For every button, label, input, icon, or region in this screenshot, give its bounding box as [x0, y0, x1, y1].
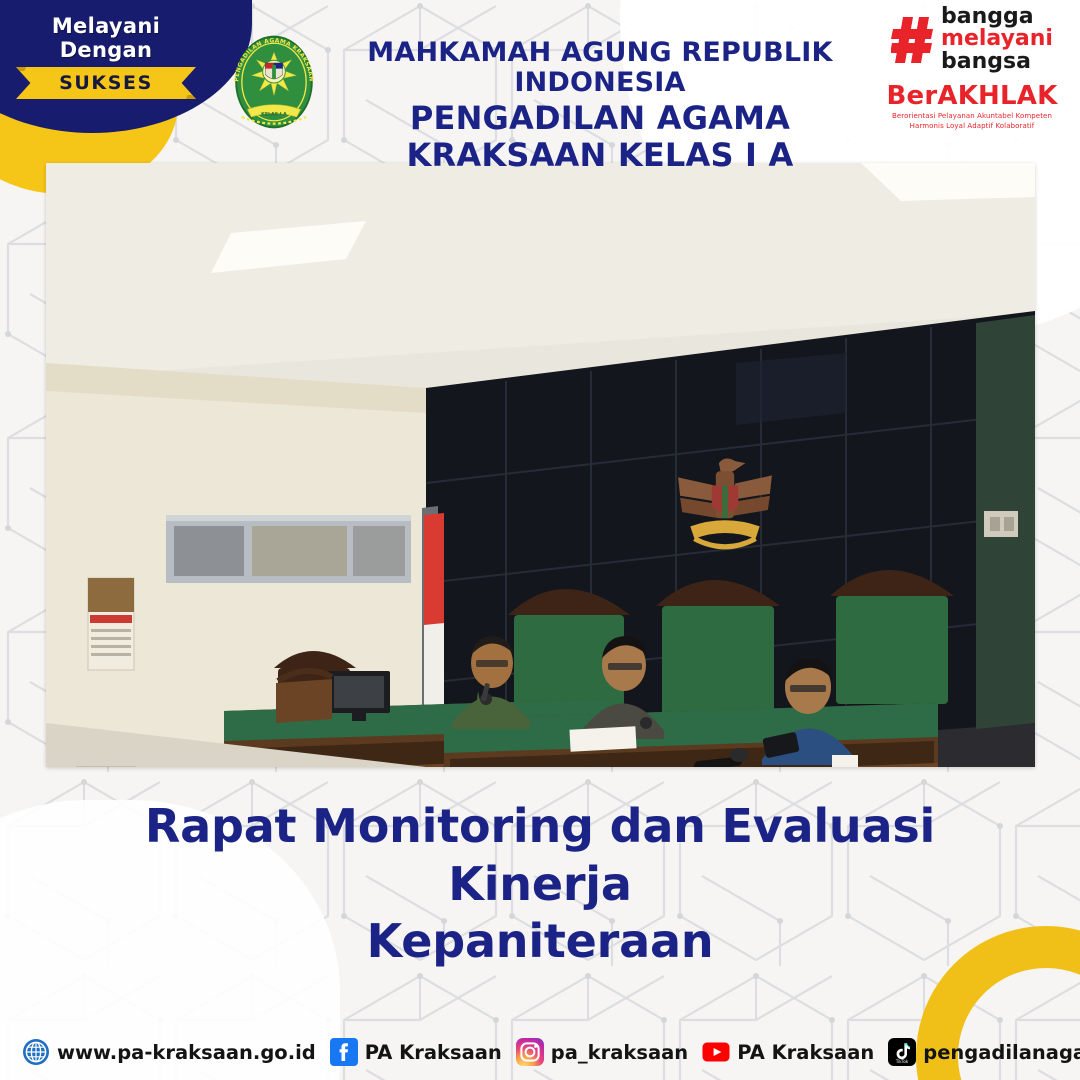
footer-item-facebook[interactable]: PA Kraksaan	[330, 1038, 502, 1066]
poster-caption: Rapat Monitoring dan Evaluasi Kinerja Ke…	[70, 798, 1010, 971]
bangga-words: bangga melayani bangsa	[941, 6, 1053, 73]
footer-item-instagram[interactable]: pa_kraksaan	[516, 1038, 688, 1066]
ribbon-tail-right-icon	[182, 95, 209, 107]
footer-item-tiktok[interactable]: TikTok pengadilanagamakraksaan	[888, 1038, 1080, 1066]
caption-line-1: Rapat Monitoring dan Evaluasi Kinerja	[70, 798, 1010, 913]
footer-label-tiktok: pengadilanagamakraksaan	[923, 1041, 1080, 1064]
berakhlak-logo: BerAKHLAK Berorientasi Pelayanan Akuntab…	[872, 81, 1072, 131]
page-title-main: PENGADILAN AGAMA KRAKSAAN KELAS I A	[330, 100, 870, 173]
berakhlak-subtitle-line-1: Berorientasi Pelayanan Akuntabel Kompete…	[872, 112, 1072, 121]
event-photo	[46, 163, 1035, 767]
courtroom-meeting-photo	[46, 163, 1035, 767]
slogan-ribbon-label: SUKSES	[59, 72, 153, 94]
bangga-word-2: melayani	[941, 28, 1053, 50]
court-seal-icon: PENGADILAN AGAMA KRAKSAAN KELAS I A	[226, 30, 322, 134]
header-title-block: MAHKAMAH AGUNG REPUBLIK INDONESIA PENGAD…	[330, 38, 870, 173]
bangga-melayani-bangsa-logo: bangga melayani bangsa	[872, 6, 1072, 73]
tiktok-icon: TikTok	[888, 1038, 916, 1066]
footer-label-website: www.pa-kraksaan.go.id	[57, 1041, 316, 1064]
footer-label-facebook: PA Kraksaan	[365, 1041, 502, 1064]
footer-label-youtube: PA Kraksaan	[737, 1041, 874, 1064]
bangga-word-1: bangga	[941, 6, 1053, 28]
youtube-icon	[702, 1038, 730, 1066]
facebook-icon	[330, 1038, 358, 1066]
bangga-word-3: bangsa	[941, 51, 1053, 73]
poster-header: Melayani Dengan SUKSES	[0, 0, 1080, 150]
slogan-line: Melayani Dengan	[8, 14, 204, 62]
svg-text:TikTok: TikTok	[895, 1059, 909, 1064]
slogan-ribbon: SUKSES	[16, 67, 196, 99]
caption-line-2: Kepaniteraan	[70, 913, 1010, 971]
hashtag-icon	[891, 15, 935, 65]
berakhlak-wordmark: BerAKHLAK	[872, 81, 1072, 111]
footer-item-website[interactable]: www.pa-kraksaan.go.id	[22, 1038, 316, 1066]
berakhlak-subtitle-line-2: Harmonis Loyal Adaptif Kolaboratif	[872, 122, 1072, 131]
page-title-top: MAHKAMAH AGUNG REPUBLIK INDONESIA	[330, 38, 870, 98]
slogan-badge: Melayani Dengan SUKSES	[8, 14, 204, 99]
svg-text:KELAS I A: KELAS I A	[261, 112, 287, 118]
poster-canvas: Melayani Dengan SUKSES	[0, 0, 1080, 1080]
brand-block: bangga melayani bangsa BerAKHLAK Berorie…	[872, 6, 1072, 131]
footer-item-youtube[interactable]: PA Kraksaan	[702, 1038, 874, 1066]
instagram-icon	[516, 1038, 544, 1066]
globe-icon	[22, 1038, 50, 1066]
social-footer: www.pa-kraksaan.go.id PA Kraksaan	[0, 1024, 1080, 1080]
footer-label-instagram: pa_kraksaan	[551, 1041, 688, 1064]
